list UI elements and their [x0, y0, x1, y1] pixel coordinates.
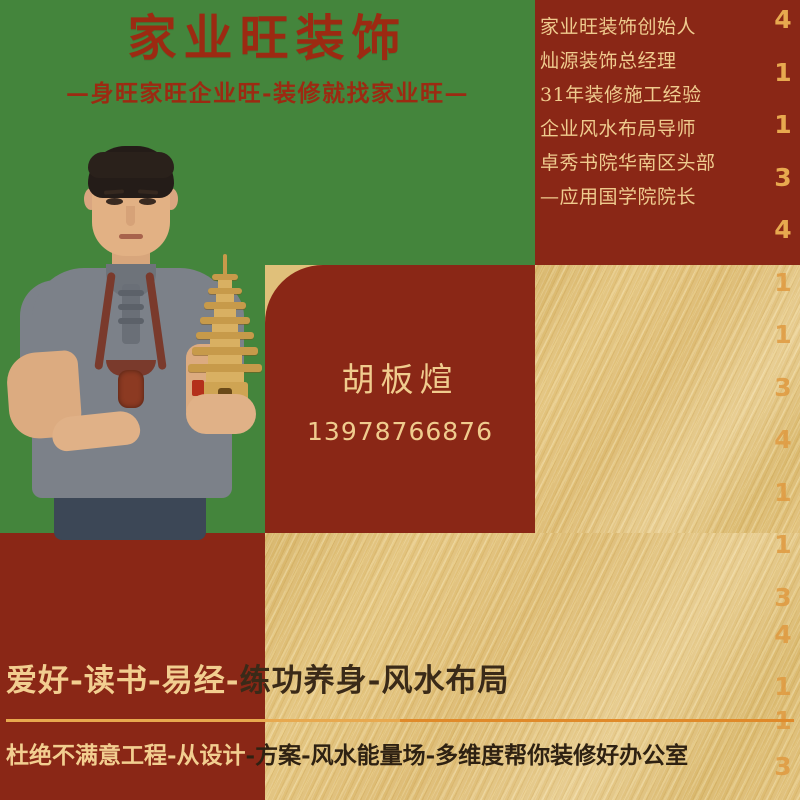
credential-line: 卓秀书院华南区头部	[540, 154, 755, 173]
person-frog-button-2	[118, 304, 144, 310]
pagoda-tier-2	[216, 294, 234, 302]
edge-digit: 4	[766, 425, 800, 454]
edge-digit: 4	[766, 5, 800, 34]
edge-digit: 3	[766, 163, 800, 192]
person-mouth	[119, 234, 143, 239]
pagoda-tier-7	[206, 372, 244, 382]
contact-phone[interactable]: 13978766876	[307, 417, 493, 446]
person-frog-button-1	[118, 290, 144, 296]
edge-digit: 4	[766, 620, 800, 649]
pagoda-tier-1	[218, 280, 232, 288]
pagoda-roof-3	[204, 302, 246, 309]
person-hand-holding-pagoda	[186, 394, 256, 434]
person-nose	[126, 206, 135, 226]
credential-line: 企业风水布局导师	[540, 120, 755, 139]
pagoda-spire	[223, 254, 227, 276]
pagoda-tier-3	[214, 309, 236, 317]
person-photo	[0, 138, 290, 538]
pagoda-tier-5	[210, 339, 240, 347]
edge-digit: 1	[766, 530, 800, 559]
credential-line: 家业旺装饰创始人	[540, 18, 755, 37]
background-gold-right	[535, 265, 800, 533]
edge-digit: 4	[766, 215, 800, 244]
edge-digit: 1	[766, 110, 800, 139]
edge-digit: 1	[766, 58, 800, 87]
edge-digit: 1	[766, 320, 800, 349]
edge-digit: 1	[766, 268, 800, 297]
credential-line: 31年装修施工经验	[540, 86, 755, 105]
contact-name-card: 胡板煊 13978766876	[265, 265, 535, 533]
golden-pagoda-icon	[182, 254, 268, 414]
jade-pendant	[118, 370, 144, 408]
pagoda-roof-6	[192, 347, 258, 355]
promise-banner-dark: -方案-风水能量场-多维度帮你装修好办公室	[246, 742, 689, 769]
person-eye-right	[139, 198, 156, 205]
pagoda-tier-4	[212, 324, 238, 332]
promise-banner: 杜绝不满意工程-从设计-方案-风水能量场-多维度帮你装修好办公室	[6, 735, 796, 777]
poster-header: 家业旺装饰 —身旺家旺企业旺-装修就找家业旺—	[0, 0, 535, 130]
person-hair-fringe	[88, 152, 174, 178]
credential-line: 灿源装饰总经理	[540, 52, 755, 71]
pagoda-roof-4	[200, 317, 250, 324]
credentials-list: 家业旺装饰创始人 灿源装饰总经理 31年装修施工经验 企业风水布局导师 卓秀书院…	[540, 18, 755, 258]
brand-slogan: —身旺家旺企业旺-装修就找家业旺—	[66, 74, 469, 108]
edge-digit: 3	[766, 373, 800, 402]
contact-name: 胡板煊	[342, 353, 459, 401]
pagoda-roof-5	[196, 332, 254, 339]
brand-title: 家业旺装饰	[127, 10, 407, 66]
hobby-banner-dark: 练功养身-风水布局	[240, 663, 510, 699]
hobby-banner-light: 爱好-读书-易经-	[6, 663, 240, 699]
edge-digit: 1	[766, 478, 800, 507]
pagoda-roof-7	[188, 364, 262, 372]
person-eye-left	[106, 198, 123, 205]
hobby-banner: 爱好-读书-易经-练功养身-风水布局	[6, 658, 796, 704]
credential-line: —应用国学院院长	[540, 188, 755, 207]
pagoda-tier-6	[208, 355, 242, 364]
promise-banner-light: 杜绝不满意工程-从设计	[6, 742, 246, 769]
banner-divider	[6, 719, 794, 722]
person-frog-button-3	[118, 318, 144, 324]
edge-digit: 3	[766, 583, 800, 612]
business-card-poster: 家业旺装饰 —身旺家旺企业旺-装修就找家业旺—	[0, 0, 800, 800]
